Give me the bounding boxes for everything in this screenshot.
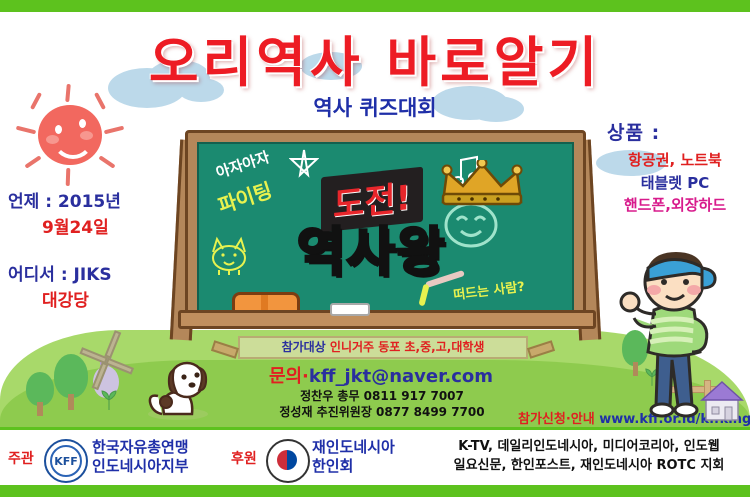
support-label: 후원 [231,448,257,468]
contact-person-2: 정성재 추진위원장 0877 8499 7700 [232,403,532,420]
crown-icon [439,160,525,206]
media-partners: K-TV, 데일리인도네시아, 미디어코리아, 인도웹 일요신문, 한인포스트,… [434,438,744,476]
tree-trunk-2 [68,394,74,410]
tree-icon-1 [26,372,54,406]
inquiry-line: 문의·kff_jkt@naver.com [238,362,524,388]
poster-title: 오리역사 바로알기 [0,18,750,97]
where-label: 어디서 : JIKS [8,265,112,285]
bottom-green-bar [0,485,750,497]
korean-association-logo-icon [266,439,310,483]
host-label: 주관 [8,448,34,468]
tree-trunk-1 [37,402,43,416]
host-name-line1: 한국자유총연맹 [92,438,189,457]
prize-line-3: 핸드폰,외장하드 [595,194,750,217]
support-name-line1: 재인도네시아 [312,438,395,457]
cat-doodle-icon [207,236,251,278]
participants-text: 인니거주 동포 초,중,고,대학생 [330,340,485,354]
apply-label: 참가신청·안내 [518,412,595,427]
media-line-2: 일요신문, 한인포스트, 재인도네시아 ROTC 지회 [434,457,744,476]
blackboard-ledge [178,310,596,329]
contact-person-1: 정찬우 총무 0811 917 7007 [232,387,532,404]
blackboard-surface: 아자아자 파이팅 [197,142,574,312]
chalk-icon [330,303,370,316]
host-name-line2: 인도네시아지부 [92,457,189,476]
schedule-block: 언제 : 2015년 9월24일 어디서 : JIKS 대강당 [8,190,193,314]
boy-character-icon [618,248,728,423]
inquiry-label: 문의· [269,366,309,387]
inquiry-email[interactable]: kff_jkt@naver.com [309,366,493,387]
sponsor-bar: 주관 KFF 한국자유총연맹 인도네시아지부 후원 재인도네시아 한인회 K-T… [0,427,750,485]
support-name: 재인도네시아 한인회 [312,438,395,476]
prizes-heading: 상품 : [595,118,750,145]
poster-canvas: 오리역사 바로알기 역사 퀴즈대회 언제 : 2015년 9월24일 어디서 :… [0,0,750,497]
kff-logo-icon: KFF [44,439,88,483]
where-value: 대강당 [42,291,89,311]
host-name: 한국자유총연맹 인도네시아지부 [92,438,189,476]
participants-label: 참가대상 [282,340,326,354]
prize-line-2: 태블렛 PC [595,172,750,195]
logo-main-text: 역사왕 [297,210,447,285]
when-label: 언제 : 2015년 [8,192,121,212]
prizes-block: 상품 : 항공권, 노트북 태블렛 PC 핸드폰,외장하드 [595,118,750,217]
participants-banner: 참가대상 인니거주 동포 초,중,고,대학생 [238,336,528,359]
when-value: 9월24일 [42,218,109,238]
media-line-1: K-TV, 데일리인도네시아, 미디어코리아, 인도웹 [434,438,744,457]
top-green-bar [0,0,750,12]
prize-line-1: 항공권, 노트북 [595,149,750,172]
sprout-icon-1 [100,390,118,410]
dog-icon [142,358,214,420]
event-logo: 도전! 역사왕 [303,158,533,298]
kff-logo-text: KFF [50,445,82,477]
tree-icon-2 [54,354,88,398]
support-name-line2: 한인회 [312,457,395,476]
taeguk-icon [277,450,297,470]
